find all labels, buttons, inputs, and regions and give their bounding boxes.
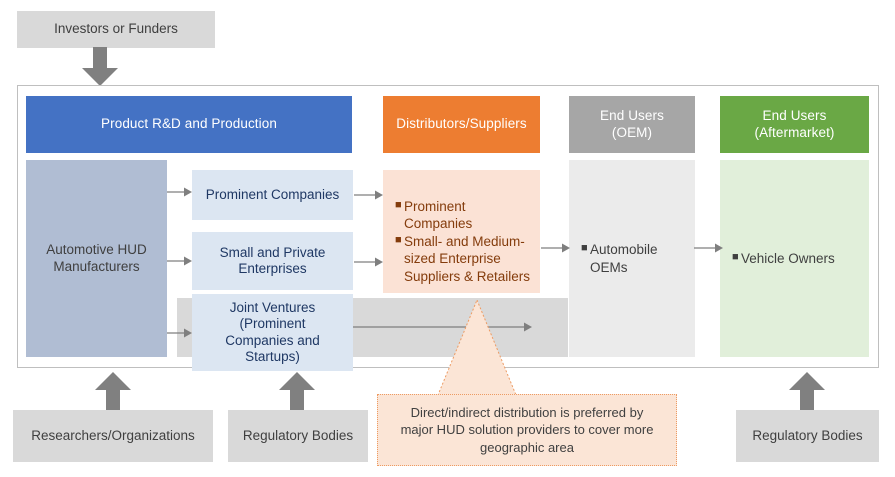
callout-distribution-note[interactable]: Direct/indirect distribution is preferre…: [377, 394, 677, 466]
list-item: ■ Automobile OEMs: [581, 241, 689, 276]
bullet-square-icon: ■: [395, 198, 404, 214]
node-small-private-line2: Enterprises: [220, 261, 326, 277]
panel-end-users-oem[interactable]: ■ Automobile OEMs: [569, 160, 695, 357]
distributor-bullet-1-line1: Small- and Medium-: [404, 234, 525, 249]
node-prominent-companies-label: Prominent Companies: [206, 187, 340, 203]
callout-line2: major HUD solution providers to cover mo…: [401, 421, 654, 439]
distributor-bullet-0-line2: Companies: [404, 216, 472, 231]
panel-distributors-suppliers[interactable]: ■ Prominent Companies ■ Small- and Mediu…: [383, 170, 540, 293]
manufacturers-label-line1: Automotive HUD: [46, 242, 147, 258]
panel-end-users-aftermarket[interactable]: ■ Vehicle Owners: [720, 160, 869, 357]
node-joint-ventures-line4: Startups): [225, 349, 320, 365]
header-end-users-aftermarket-line2: (Aftermarket): [754, 125, 834, 141]
callout-line1: Direct/indirect distribution is preferre…: [401, 404, 654, 422]
header-product-rd-label: Product R&D and Production: [101, 116, 277, 132]
header-end-users-oem[interactable]: End Users (OEM): [569, 96, 695, 153]
bullet-square-icon: ■: [732, 250, 741, 266]
external-box-researchers[interactable]: Researchers/Organizations: [13, 410, 213, 462]
bullet-square-icon: ■: [395, 233, 404, 249]
node-prominent-companies[interactable]: Prominent Companies: [192, 170, 353, 220]
external-box-regulatory-left[interactable]: Regulatory Bodies: [228, 410, 368, 462]
distributor-bullet-1-line2: sized Enterprise: [404, 251, 501, 266]
header-end-users-oem-line1: End Users: [600, 108, 664, 124]
header-end-users-oem-line2: (OEM): [600, 125, 664, 141]
bullet-square-icon: ■: [581, 241, 590, 257]
external-box-regulatory-right[interactable]: Regulatory Bodies: [736, 410, 879, 462]
aftermarket-bullet-0-line1: Vehicle Owners: [741, 251, 835, 266]
up-block-arrow-icon: [783, 371, 831, 411]
node-joint-ventures-line3: Companies and: [225, 333, 320, 349]
node-small-private-line1: Small and Private: [220, 245, 326, 261]
external-box-investors[interactable]: Investors or Funders: [17, 11, 215, 48]
list-item: ■ Prominent Companies: [395, 198, 532, 233]
node-joint-ventures[interactable]: Joint Ventures (Prominent Companies and …: [192, 294, 353, 371]
distributor-bullet-0-line1: Prominent: [404, 199, 466, 214]
external-box-regulatory-right-label: Regulatory Bodies: [752, 428, 862, 444]
external-box-regulatory-left-label: Regulatory Bodies: [243, 428, 353, 444]
external-box-researchers-label: Researchers/Organizations: [31, 428, 195, 444]
manufacturers-label-line2: Manufacturers: [46, 259, 147, 275]
node-joint-ventures-line1: Joint Ventures: [225, 300, 320, 316]
oem-bullet-0-line2: OEMs: [590, 260, 628, 275]
header-end-users-aftermarket[interactable]: End Users (Aftermarket): [720, 96, 869, 153]
list-item: ■ Small- and Medium- sized Enterprise Su…: [395, 233, 532, 286]
down-block-arrow-icon: [76, 47, 124, 87]
header-distributors-label: Distributors/Suppliers: [396, 116, 527, 132]
node-small-private-enterprises[interactable]: Small and Private Enterprises: [192, 232, 353, 290]
header-product-rd[interactable]: Product R&D and Production: [26, 96, 352, 153]
callout-line3: geographic area: [401, 439, 654, 457]
header-distributors[interactable]: Distributors/Suppliers: [383, 96, 540, 153]
distributor-bullet-1-line3: Suppliers & Retailers: [404, 269, 530, 284]
list-item: ■ Vehicle Owners: [732, 250, 863, 268]
external-box-investors-label: Investors or Funders: [54, 21, 178, 37]
node-joint-ventures-line2: (Prominent: [225, 316, 320, 332]
up-block-arrow-icon: [89, 371, 137, 411]
oem-bullet-0-line1: Automobile: [590, 242, 658, 257]
panel-automotive-hud-manufacturers[interactable]: Automotive HUD Manufacturers: [26, 160, 167, 357]
up-block-arrow-icon: [273, 371, 321, 411]
diagram-canvas: Investors or Funders Product R&D and Pro…: [0, 0, 895, 477]
header-end-users-aftermarket-line1: End Users: [754, 108, 834, 124]
